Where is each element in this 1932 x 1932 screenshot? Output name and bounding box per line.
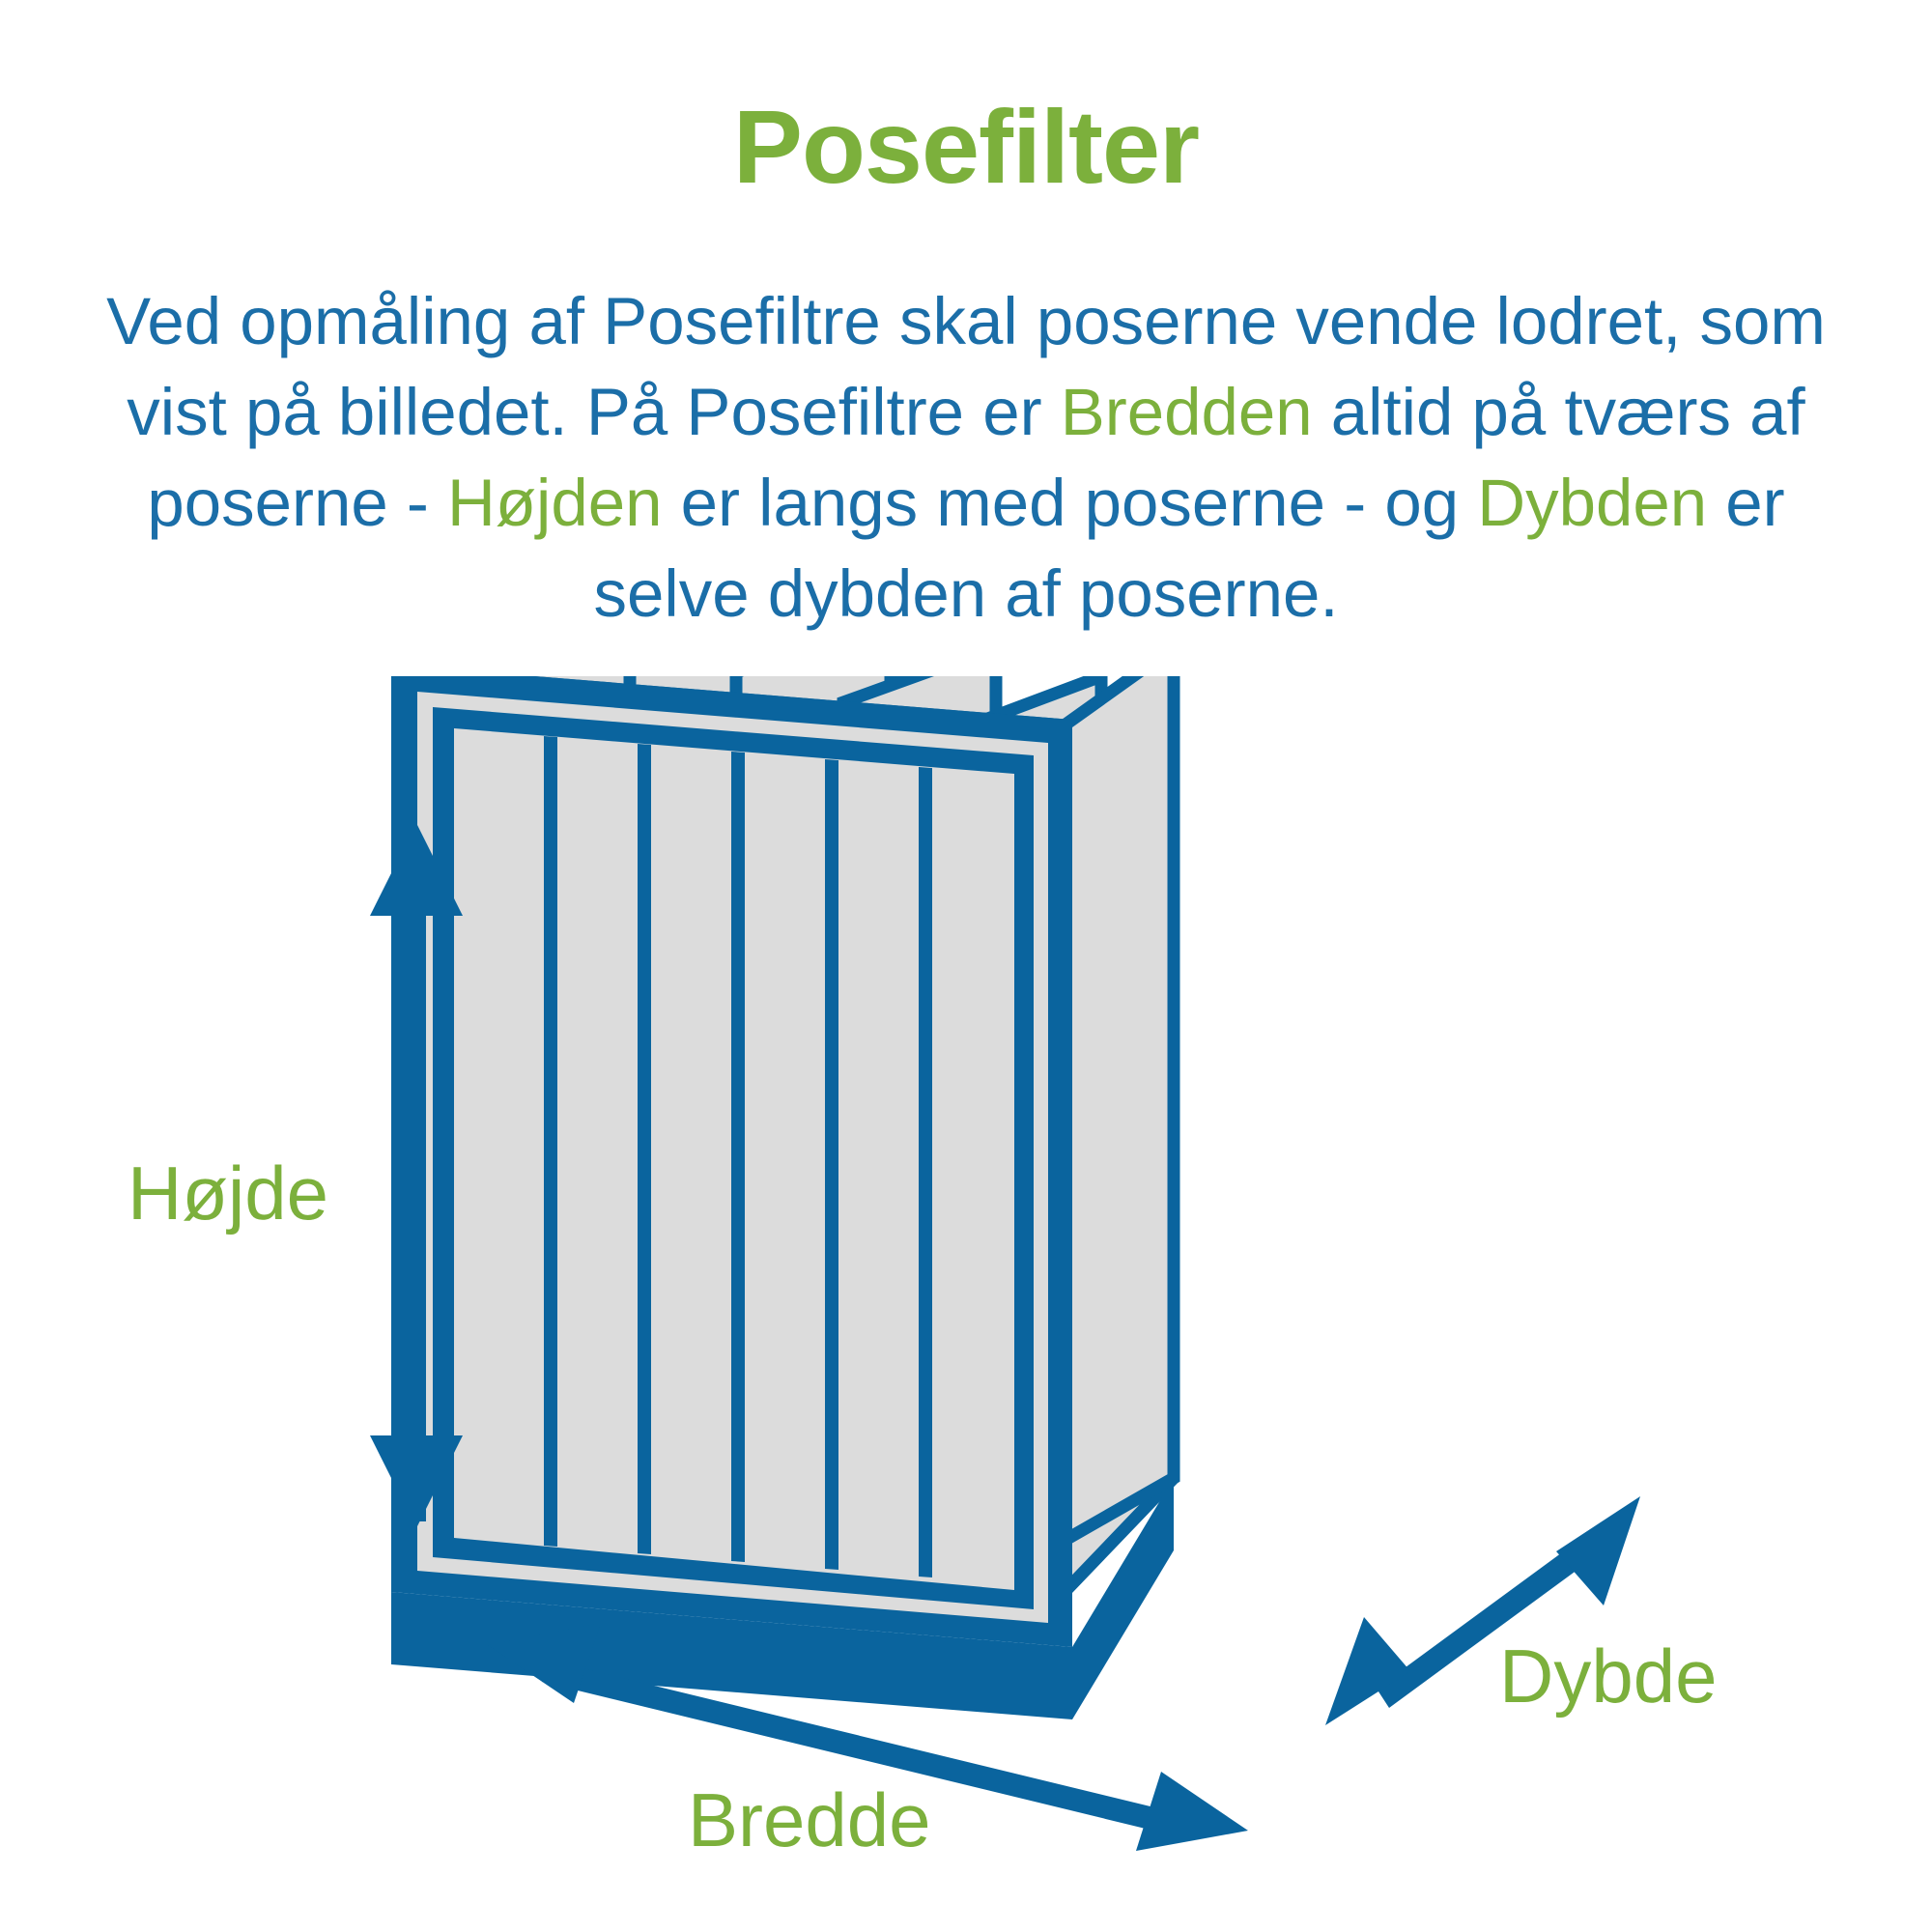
pocket-divider-1 xyxy=(544,736,557,1547)
dimension-label-depth: Dybde xyxy=(1499,1638,1717,1714)
pocket-divider-3 xyxy=(731,752,745,1562)
intro-line-2-post: altid på xyxy=(1313,375,1547,449)
intro-line-1: Ved opmåling af Posefiltre skal poserne … xyxy=(106,284,1681,358)
bag-filter-diagram xyxy=(0,676,1932,1932)
intro-highlight-hojden: Højden xyxy=(447,466,662,540)
page-title: Posefilter xyxy=(0,95,1932,199)
intro-highlight-dybden: Dybden xyxy=(1477,466,1707,540)
intro-line-4-pre: - og xyxy=(1344,466,1477,540)
intro-line-3-post: er langs med poserne xyxy=(662,466,1325,540)
dimension-label-width: Bredde xyxy=(688,1782,931,1858)
page-root: Posefilter Ved opmåling af Posefiltre sk… xyxy=(0,0,1932,1932)
intro-paragraph: Ved opmåling af Posefiltre skal poserne … xyxy=(68,276,1864,639)
pocket-divider-2 xyxy=(638,744,651,1554)
dimension-label-height: Højde xyxy=(128,1155,328,1231)
pocket-divider-4 xyxy=(825,759,838,1570)
intro-highlight-bredden: Bredden xyxy=(1061,375,1313,449)
bag-filter-svg xyxy=(0,676,1932,1932)
filter-body xyxy=(391,676,1174,1719)
pocket-divider-5 xyxy=(919,767,932,1577)
